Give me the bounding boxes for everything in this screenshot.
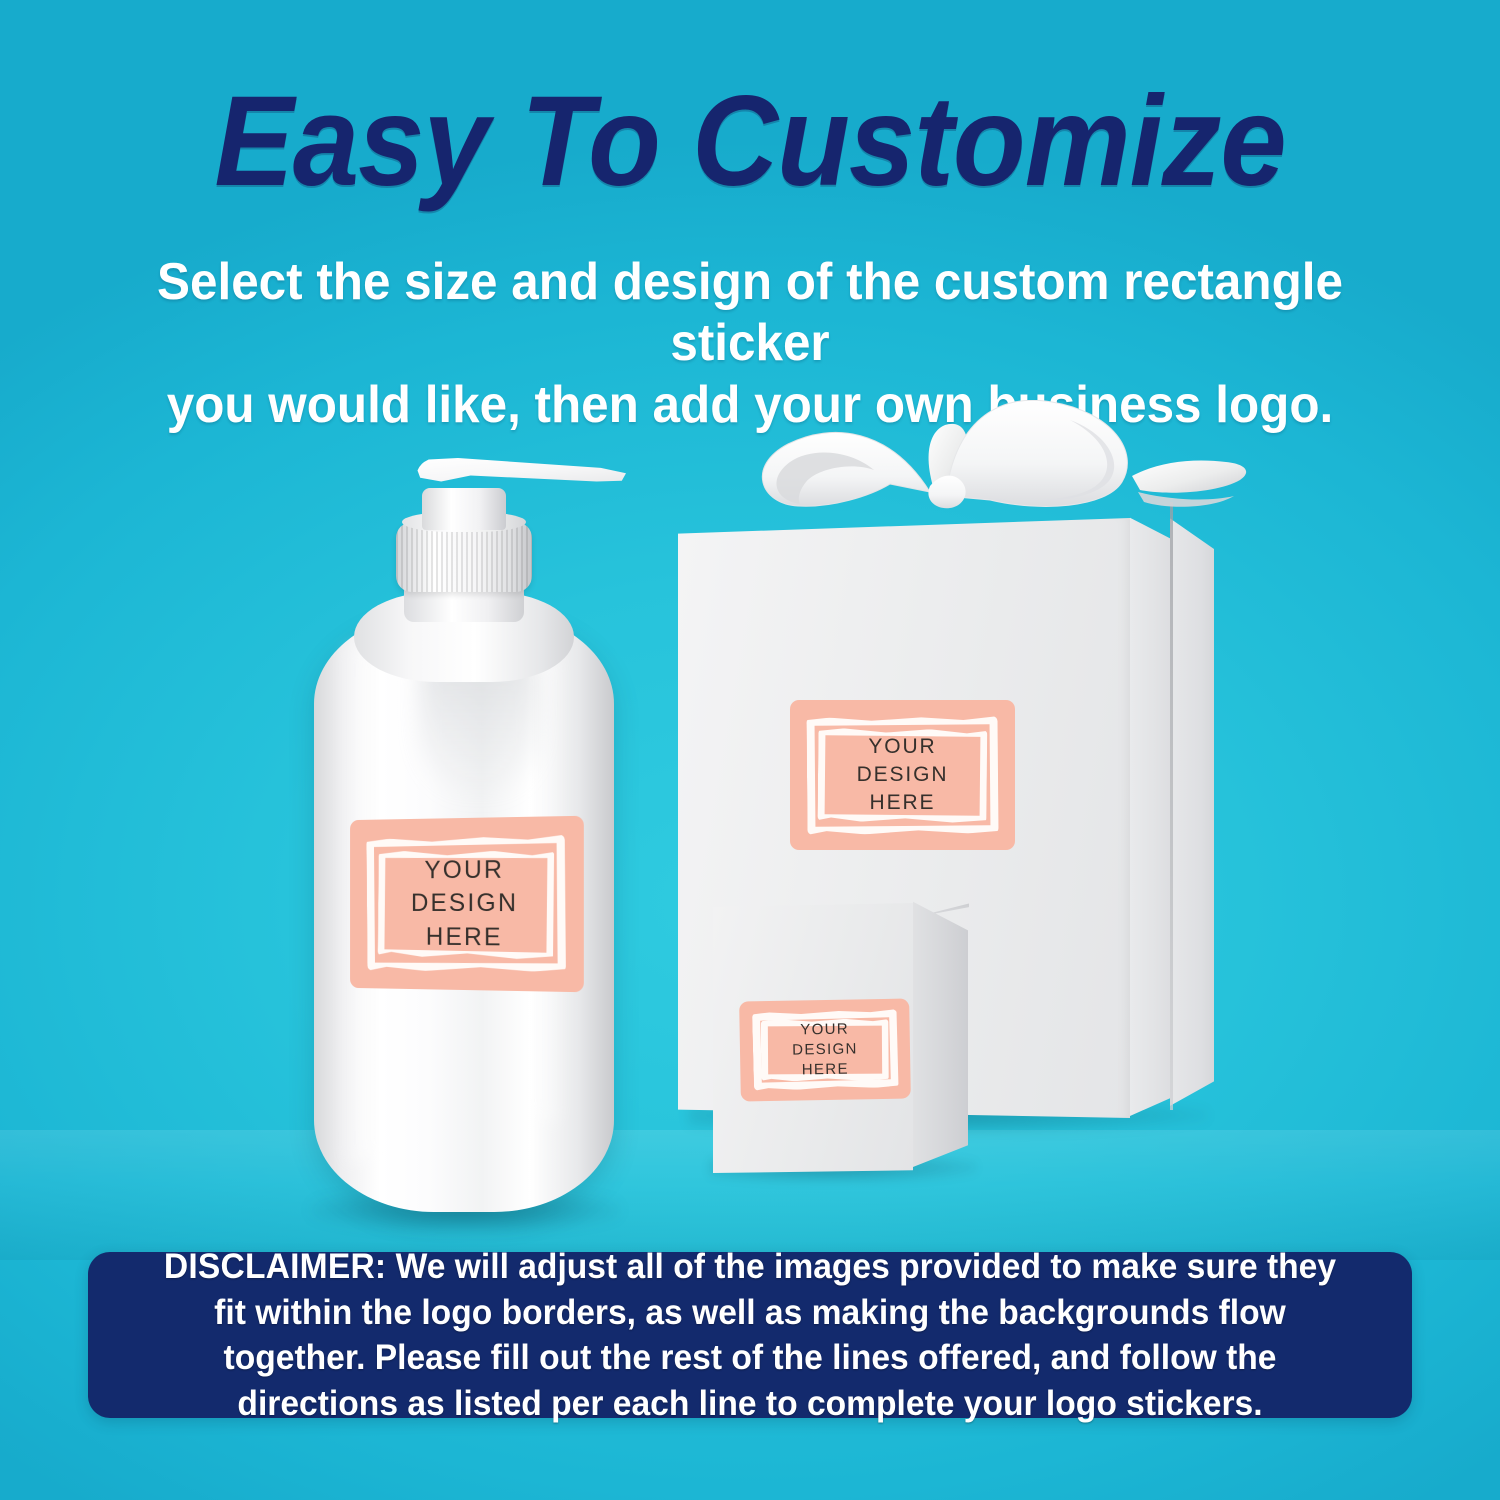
gift-box-seam-line (1170, 502, 1173, 1110)
sticker-label-line-3: HERE (426, 921, 503, 955)
sticker-label: YOUR DESIGN HERE (790, 700, 1015, 850)
subtitle-line-1: Select the size and design of the custom… (133, 252, 1368, 375)
sticker-label-line-1: YOUR (424, 853, 504, 887)
disclaimer-label: DISCLAIMER: (164, 1247, 386, 1286)
sticker-label-line-1: YOUR (868, 733, 936, 761)
sticker-label-line-3: HERE (870, 789, 936, 817)
gift-box-side-face (1130, 496, 1172, 1116)
sticker-label: YOUR DESIGN HERE (739, 999, 911, 1102)
sticker-label: YOUR DESIGN HERE (350, 816, 584, 992)
ribbon-bow-icon (740, 400, 1270, 545)
small-box-side-face (913, 895, 968, 1167)
page-title: Easy To Customize (53, 78, 1448, 206)
disclaimer-text: DISCLAIMER: We will adjust all of the im… (147, 1244, 1353, 1426)
ribbon-bow-svg (740, 400, 1270, 545)
sticker-on-gift-box[interactable]: YOUR DESIGN HERE (790, 700, 1015, 850)
sticker-on-pump-bottle[interactable]: YOUR DESIGN HERE (350, 816, 584, 992)
sticker-label-line-3: HERE (802, 1060, 849, 1081)
bottle-ribbed-collar (396, 522, 532, 592)
promo-image-canvas: Easy To Customize Select the size and de… (0, 0, 1500, 1500)
sticker-label-line-2: DESIGN (857, 761, 949, 789)
pump-stem (422, 488, 506, 530)
gift-box-lid-edge (1170, 500, 1214, 1112)
sticker-label-line-1: YOUR (800, 1019, 849, 1040)
sticker-label-line-2: DESIGN (411, 887, 518, 921)
sticker-label-line-2: DESIGN (792, 1039, 858, 1060)
disclaimer-banner: DISCLAIMER: We will adjust all of the im… (88, 1252, 1412, 1418)
sticker-on-small-box[interactable]: YOUR DESIGN HERE (739, 999, 911, 1102)
